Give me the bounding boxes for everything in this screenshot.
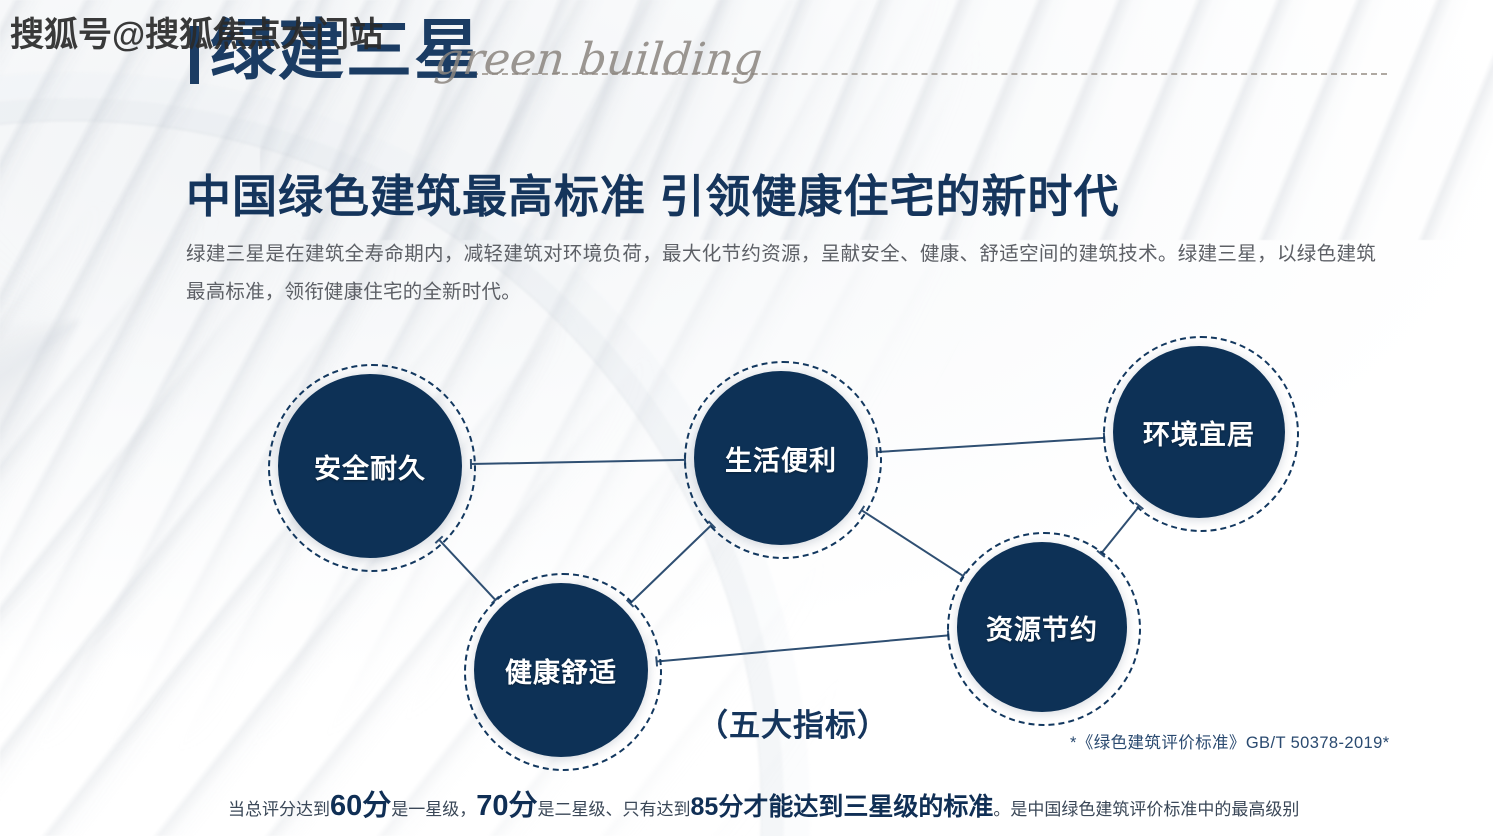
indicator-node-resource[interactable]: 资源节约	[957, 542, 1127, 712]
diagram-edge-safety-health	[439, 540, 495, 600]
indicator-node-environment[interactable]: 环境宜居	[1113, 346, 1285, 518]
note-score-70: 70分	[476, 790, 537, 822]
diagram-edge-convenience-health	[630, 525, 712, 604]
diagram-edge-convenience-resource	[862, 510, 964, 576]
indicator-label-health: 健康舒适	[505, 651, 617, 690]
diagram-edge-health-resource	[657, 635, 949, 661]
note-score-60: 60分	[330, 790, 391, 822]
indicator-node-convenience[interactable]: 生活便利	[694, 371, 868, 545]
indicator-label-environment: 环境宜居	[1143, 413, 1255, 452]
site-watermark: 搜狐号@搜狐焦点大门站	[10, 7, 383, 56]
indicator-node-safety[interactable]: 安全耐久	[278, 374, 462, 558]
diagram-caption: （五大指标）	[697, 700, 889, 745]
indicator-node-health[interactable]: 健康舒适	[474, 583, 648, 757]
indicator-label-resource: 资源节约	[986, 608, 1098, 647]
note-part-4: 。是中国绿色建筑评价标准中的最高级别	[993, 800, 1299, 819]
poster-canvas: 搜狐号@搜狐焦点大门站 绿建三星 green building 中国绿色建筑最高…	[0, 0, 1493, 836]
intro-paragraph: 绿建三星是在建筑全寿命期内，减轻建筑对环境负荷，最大化节约资源，呈献安全、健康、…	[186, 235, 1376, 311]
title-english-script: green building	[432, 34, 764, 86]
diagram-edge-safety-convenience	[471, 460, 685, 464]
indicator-label-convenience: 生活便利	[725, 439, 837, 478]
standard-citation: *《绿色建筑评价标准》GB/T 50378-2019*	[1070, 729, 1390, 753]
diagram-edge-convenience-environment	[877, 438, 1104, 452]
scoring-note: 当总评分达到60分是一星级，70分是二星级、只有达到85分才能达到三星级的标准。…	[228, 782, 1299, 824]
note-part-2: 是一星级，	[391, 800, 476, 819]
note-part-3: 是二星级、只有达到	[538, 800, 691, 819]
indicator-label-safety: 安全耐久	[314, 447, 426, 486]
note-score-85: 85分才能达到三星级的标准	[691, 793, 994, 821]
page-title: 中国绿色建筑最高标准 引领健康住宅的新时代	[186, 168, 1120, 226]
diagram-edge-environment-resource	[1101, 506, 1139, 554]
note-part-1: 当总评分达到	[228, 800, 330, 819]
